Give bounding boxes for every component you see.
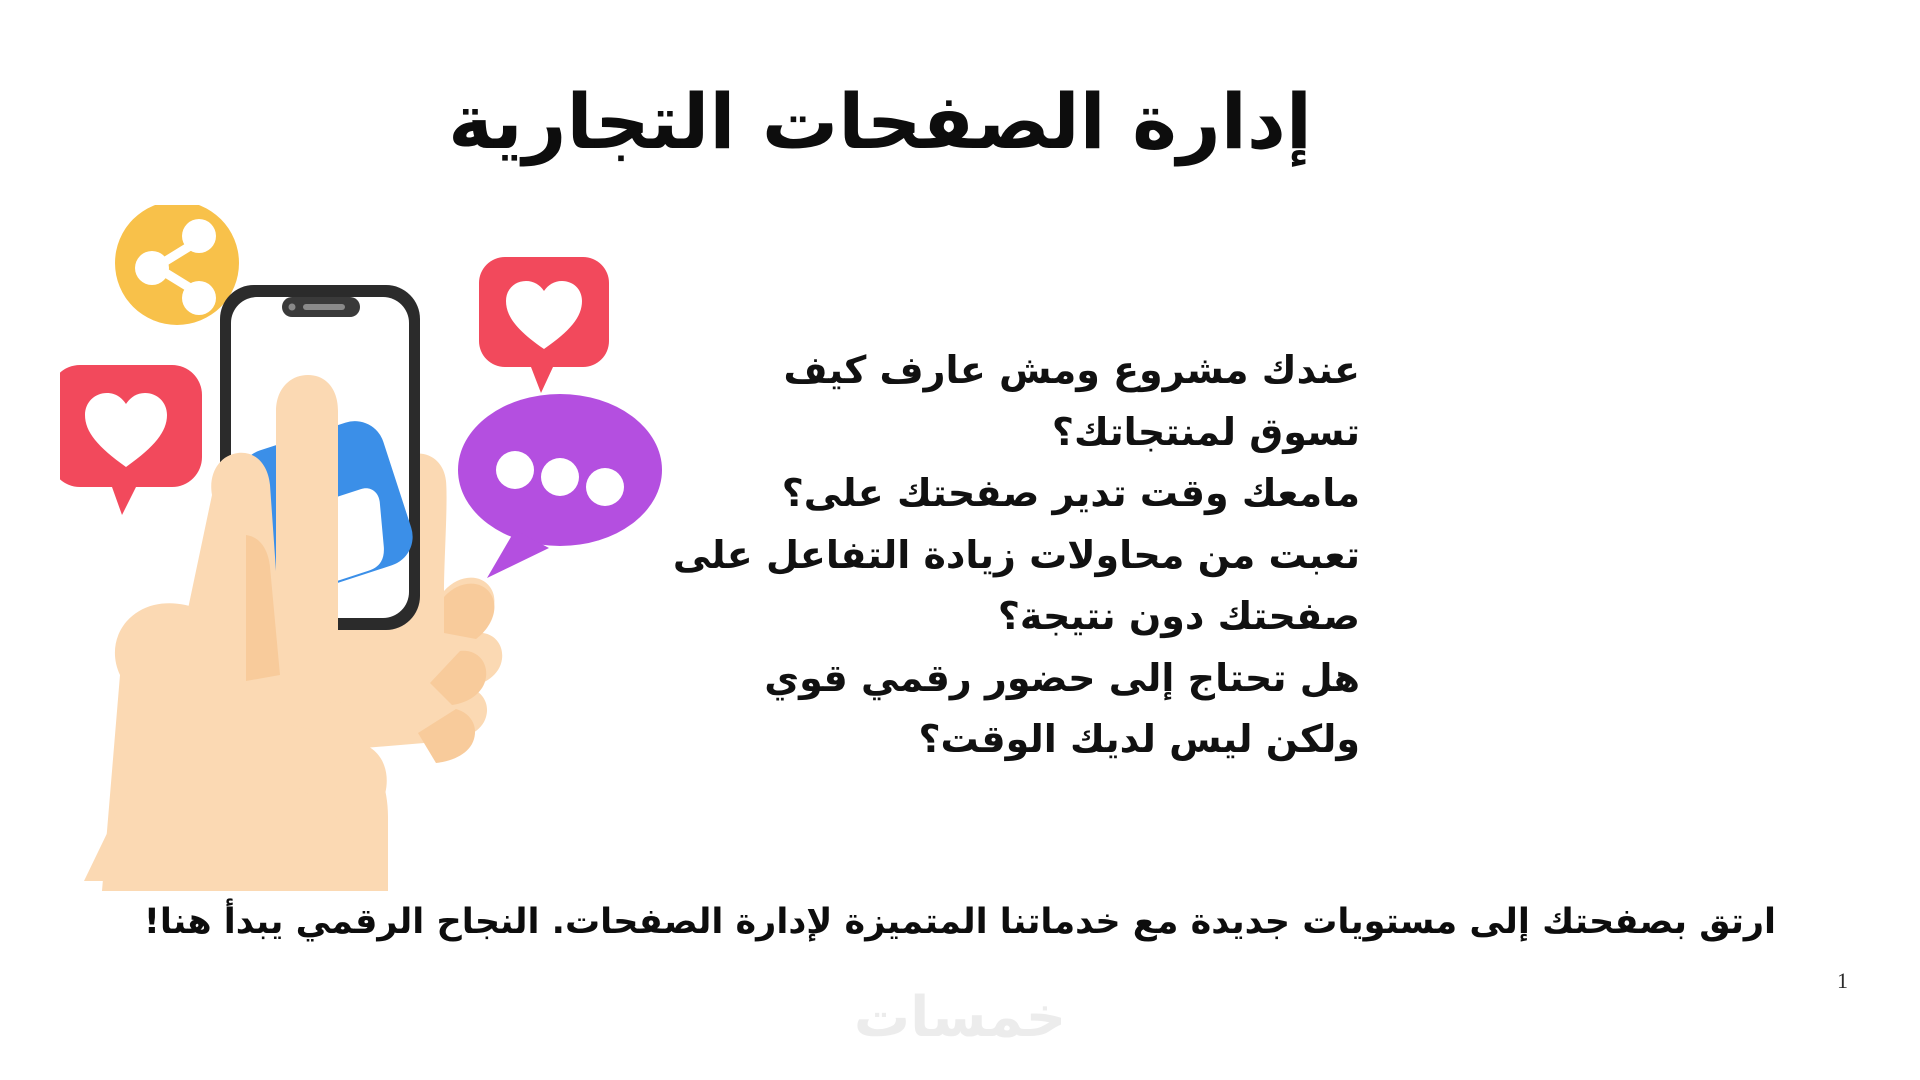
share-icon-badge — [115, 205, 239, 325]
body-line: مامعك وقت تدير صفحتك على؟ — [670, 463, 1360, 525]
call-to-action-text: ارتق بصفحتك إلى مستويات جديدة مع خدماتنا… — [0, 900, 1920, 946]
body-line: هل تحتاج إلى حضور رقمي قوي ولكن ليس لديك… — [670, 648, 1360, 771]
body-line: عندك مشروع ومش عارف كيف تسوق لمنتجاتك؟ — [670, 340, 1360, 463]
slide-root: إدارة الصفحات التجارية — [0, 0, 1920, 1080]
comment-icon-badge — [458, 394, 662, 578]
heart-icon-badge-top — [479, 257, 609, 393]
heart-icon-badge-left — [60, 365, 202, 515]
page-title: إدارة الصفحات التجارية — [0, 78, 1760, 165]
illustration-hands-phone-social — [60, 205, 700, 895]
body-text-block: عندك مشروع ومش عارف كيف تسوق لمنتجاتك؟ م… — [670, 340, 1360, 771]
page-number: 1 — [1837, 968, 1848, 994]
body-line: تعبت من محاولات زيادة التفاعل على صفحتك … — [670, 525, 1360, 648]
watermark-khamsat: خمسات — [0, 985, 1920, 1050]
